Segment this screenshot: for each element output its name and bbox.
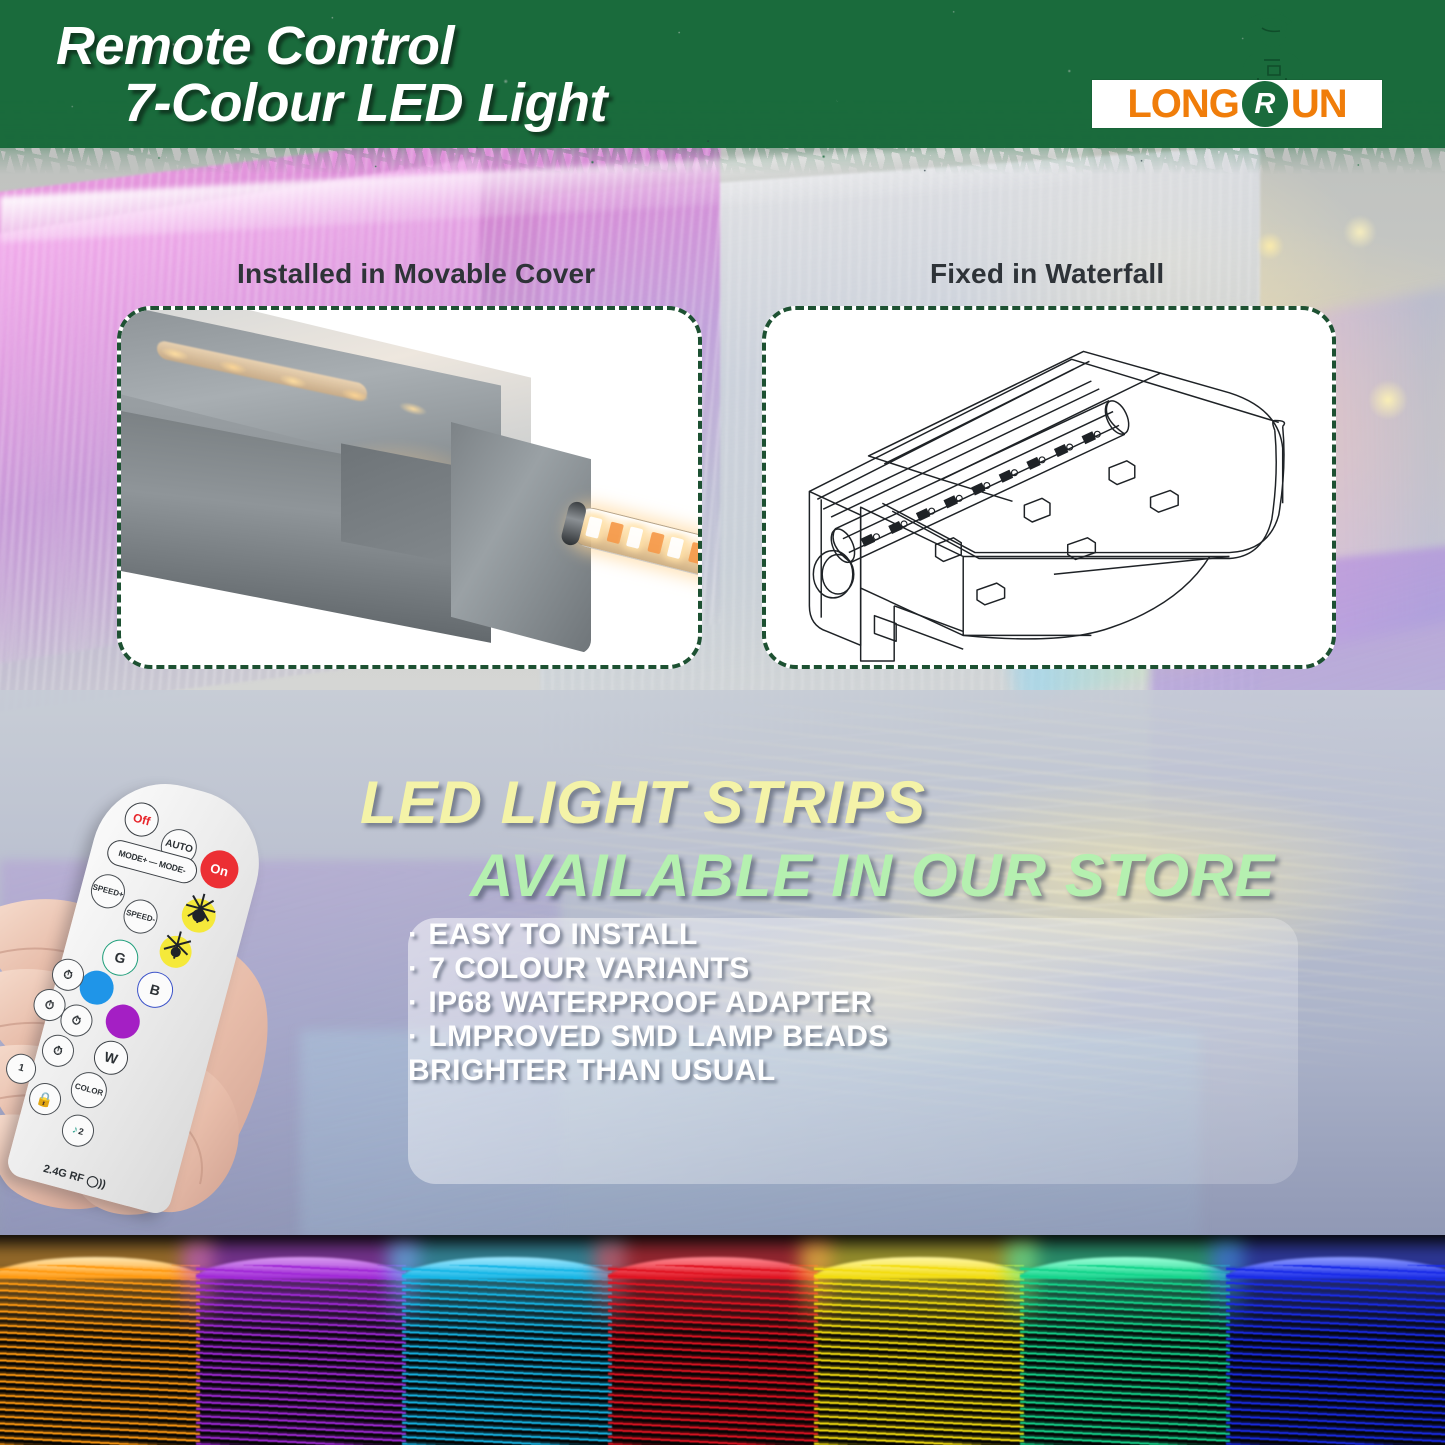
feature-text: 7 COLOUR VARIANTS bbox=[428, 952, 749, 985]
page-title: Remote Control 7-Colour LED Light bbox=[56, 18, 1016, 131]
headline-line-2: AVAILABLE IN OUR STORE bbox=[360, 841, 1410, 910]
distant-golden-lights-upper bbox=[1240, 196, 1445, 306]
color-button[interactable]: COLOR bbox=[67, 1068, 111, 1112]
mode-down-label: MODE- bbox=[158, 859, 187, 876]
yellow-waterfall bbox=[814, 1235, 1024, 1445]
logo-monogram-letter: R bbox=[1254, 90, 1275, 119]
brand-logo[interactable]: LONG R UN bbox=[1092, 6, 1392, 138]
purple-waterfall bbox=[196, 1235, 406, 1445]
mode-dash: — bbox=[148, 856, 159, 868]
speed-down-button[interactable]: SPEED- bbox=[120, 896, 162, 938]
panel-label-fixed-waterfall: Fixed in Waterfall bbox=[930, 258, 1164, 290]
logo-text-left: LONG bbox=[1127, 84, 1239, 124]
sun-dim-icon bbox=[156, 932, 195, 971]
feature-text: EASY TO INSTALL bbox=[428, 918, 697, 951]
on-button[interactable]: On bbox=[196, 846, 243, 893]
logo-monogram-circle: R bbox=[1242, 81, 1288, 127]
colour-variants-strip bbox=[0, 1235, 1445, 1445]
sun-bright-icon bbox=[178, 895, 220, 937]
bullet-icon: · bbox=[408, 1020, 418, 1053]
green-waterfall bbox=[1020, 1235, 1230, 1445]
headline-line-1: LED LIGHT STRIPS bbox=[360, 768, 1410, 837]
feature-item: ·7 COLOUR VARIANTS bbox=[408, 952, 1298, 986]
brightness-up-button[interactable] bbox=[178, 895, 220, 937]
brightness-down-button[interactable] bbox=[156, 932, 195, 971]
blue-waterfall bbox=[1226, 1235, 1445, 1445]
timer-icon: ⏱ bbox=[70, 1014, 82, 1028]
mode-up-label: MODE+ bbox=[117, 848, 148, 865]
red-waterfall bbox=[608, 1235, 818, 1445]
logo-wordmark-bar: LONG R UN bbox=[1092, 80, 1382, 128]
feature-list-card: ·EASY TO INSTALL ·7 COLOUR VARIANTS ·IP6… bbox=[408, 918, 1298, 1184]
timer-icon: ⏱ bbox=[43, 998, 55, 1012]
off-button[interactable]: Off bbox=[121, 799, 163, 841]
speed-up-button[interactable]: SPEED+ bbox=[87, 870, 129, 912]
panel-label-movable-cover: Installed in Movable Cover bbox=[237, 258, 595, 290]
feature-text: LMPROVED SMD LAMP BEADS bbox=[428, 1020, 888, 1053]
remote-control-in-hand: Off AUTO On MODE+ — MODE- SPEED+ SPEED- bbox=[10, 770, 330, 1240]
timer-icon: ⏱ bbox=[52, 1044, 64, 1058]
cyan-waterfall bbox=[402, 1235, 612, 1445]
music-button[interactable]: ♪ 2 bbox=[58, 1111, 97, 1150]
white-button[interactable]: W bbox=[90, 1037, 132, 1079]
diagram-panel-movable-cover bbox=[117, 306, 702, 669]
banner-paint-flecks bbox=[0, 130, 1445, 200]
feature-item: ·LMPROVED SMD LAMP BEADS bbox=[408, 1020, 1298, 1054]
title-line-1: Remote Control bbox=[56, 16, 454, 76]
lock-button[interactable]: 🔒 bbox=[25, 1079, 64, 1118]
orange-waterfall bbox=[0, 1235, 200, 1445]
product-infographic: Remote Control 7-Colour LED Light bbox=[0, 0, 1445, 1445]
timer-button[interactable]: ⏱ bbox=[38, 1031, 77, 1070]
music-mode-number: 2 bbox=[78, 1127, 85, 1137]
blue-button[interactable]: B bbox=[133, 968, 177, 1012]
feature-item: ·IP68 WATERPROOF ADAPTER bbox=[408, 986, 1298, 1020]
bullet-icon: · bbox=[408, 918, 418, 951]
store-headline: LED LIGHT STRIPS AVAILABLE IN OUR STORE bbox=[360, 768, 1410, 910]
cad-line-drawing bbox=[766, 310, 1332, 668]
feature-item: ·EASY TO INSTALL bbox=[408, 918, 1298, 952]
diagram-panel-fixed-waterfall bbox=[762, 306, 1336, 669]
timer-icon: ⏱ bbox=[62, 968, 74, 982]
bullet-icon: · bbox=[408, 952, 418, 985]
title-line-2: 7-Colour LED Light bbox=[56, 75, 1016, 132]
bullet-icon: · bbox=[408, 986, 418, 1019]
feature-text: IP68 WATERPROOF ADAPTER bbox=[428, 986, 872, 1019]
lock-icon: 🔒 bbox=[35, 1090, 55, 1108]
logo-text-right: UN bbox=[1291, 84, 1347, 124]
purple-swatch[interactable] bbox=[102, 1001, 144, 1043]
feature-text-continuation: BRIGHTER THAN USUAL bbox=[408, 1054, 1298, 1088]
